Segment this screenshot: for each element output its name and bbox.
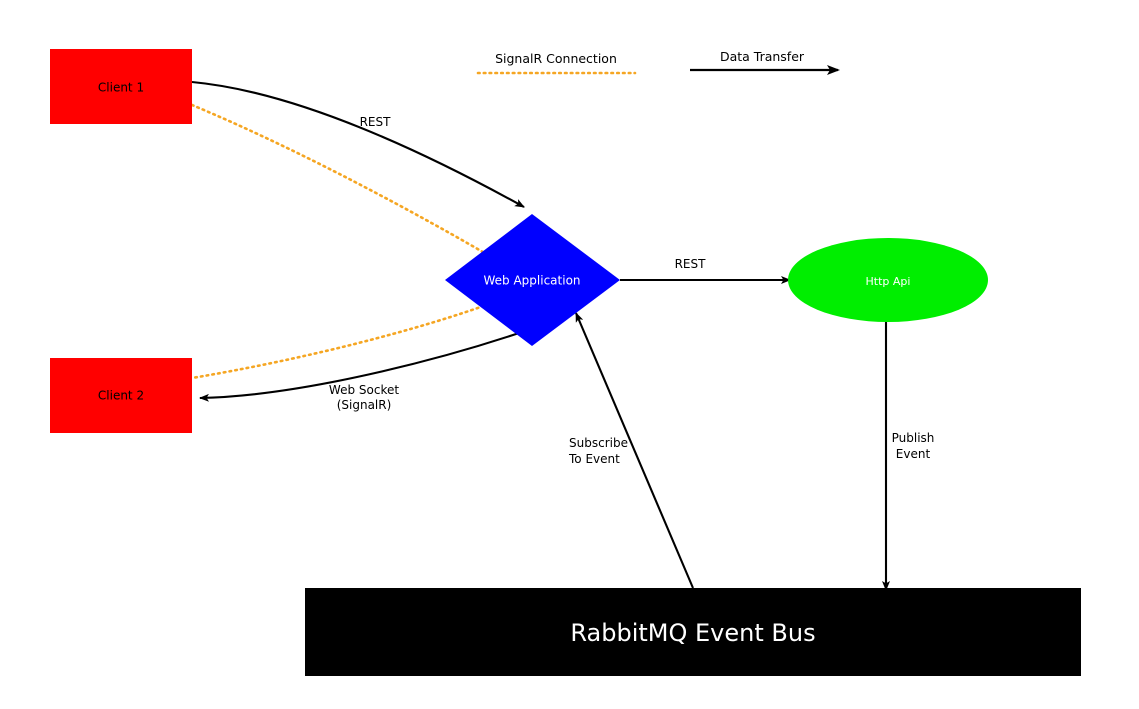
legend-label-signalr: SignalR Connection bbox=[495, 51, 617, 66]
node-label-client1: Client 1 bbox=[98, 81, 144, 95]
edge-line-client1-signalr bbox=[192, 105, 500, 262]
diagram-canvas: SignalR Connection Data Transfer REST We… bbox=[0, 0, 1139, 709]
node-client1[interactable]: Client 1 bbox=[50, 49, 192, 124]
node-label-client2: Client 2 bbox=[98, 389, 144, 403]
edge-webapp-rest: REST bbox=[620, 257, 790, 280]
edge-label-subscribe-line1: Subscribe bbox=[569, 436, 628, 450]
edge-label-webapp-rest: REST bbox=[675, 257, 707, 271]
edge-label-websocket-line1: Web Socket bbox=[329, 383, 399, 397]
legend-item-data-transfer: Data Transfer bbox=[690, 49, 838, 70]
edge-label-websocket-line2: (SignalR) bbox=[337, 398, 392, 412]
node-label-webapp: Web Application bbox=[483, 274, 580, 288]
edge-label-subscribe-line2: To Event bbox=[568, 452, 620, 466]
edge-client1-rest: REST bbox=[192, 82, 524, 207]
node-label-eventbus: RabbitMQ Event Bus bbox=[570, 619, 815, 647]
edge-label-publish-line2: Event bbox=[896, 447, 931, 461]
node-httpapi[interactable]: Http Api bbox=[788, 238, 988, 322]
edge-subscribe: Subscribe To Event bbox=[568, 313, 693, 588]
edge-label-client1-rest: REST bbox=[360, 115, 392, 129]
node-webapp[interactable]: Web Application bbox=[445, 214, 620, 346]
legend-label-data-transfer: Data Transfer bbox=[720, 49, 805, 64]
node-client2[interactable]: Client 2 bbox=[50, 358, 192, 433]
legend-item-signalr: SignalR Connection bbox=[478, 51, 635, 73]
legend: SignalR Connection Data Transfer bbox=[478, 49, 838, 73]
edge-line-subscribe bbox=[576, 313, 693, 588]
edge-line-client1-rest bbox=[192, 82, 524, 207]
edge-websocket: Web Socket (SignalR) bbox=[200, 330, 528, 412]
edge-publish: Publish Event bbox=[886, 322, 934, 590]
edge-line-client2-signalr bbox=[192, 300, 500, 378]
node-eventbus[interactable]: RabbitMQ Event Bus bbox=[305, 588, 1081, 676]
edge-label-publish-line1: Publish bbox=[892, 431, 935, 445]
architecture-diagram: SignalR Connection Data Transfer REST We… bbox=[0, 0, 1139, 709]
node-label-httpapi: Http Api bbox=[866, 275, 911, 288]
